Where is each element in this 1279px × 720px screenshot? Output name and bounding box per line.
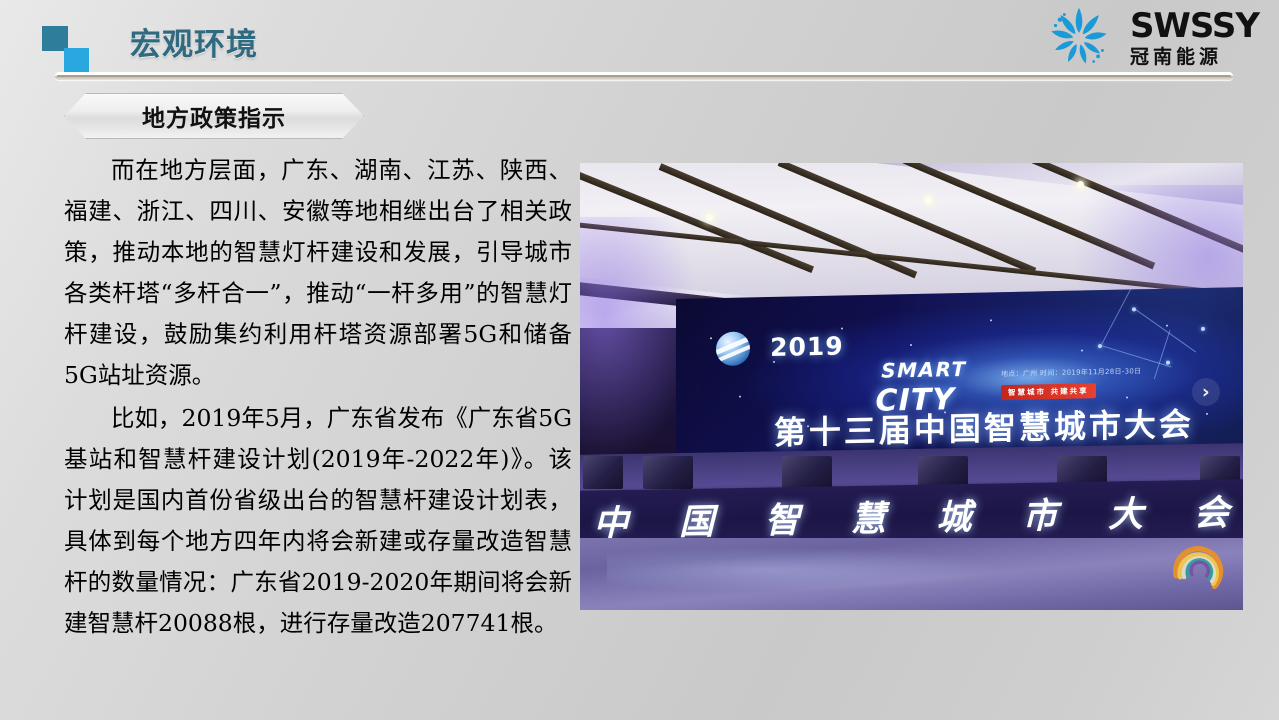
body-paragraph-2: 比如，2019年5月，广东省发布《广东省5G基站和智慧杆建设计划(2019年-2… bbox=[64, 398, 572, 644]
event-ring-logo-icon bbox=[1167, 535, 1233, 601]
floor-reflection bbox=[607, 547, 1005, 592]
front-panel-char: 大 bbox=[1108, 485, 1143, 537]
led-slogan: 智慧城市 共建共享 bbox=[1001, 383, 1096, 400]
title-decoration-squares bbox=[42, 26, 90, 72]
network-node-icon bbox=[1201, 327, 1205, 331]
page-title: 宏观环境 bbox=[130, 19, 258, 64]
stage-monitor bbox=[782, 456, 832, 490]
front-panel-char: 会 bbox=[1194, 484, 1229, 536]
photo-content: 2019 SMART CITY 地点：广州 时间：2019年11月28日-30日… bbox=[580, 163, 1243, 610]
front-panel-char: 智 bbox=[765, 491, 800, 543]
led-smart: SMART bbox=[881, 357, 966, 383]
body-paragraph-1: 而在地方层面，广东、湖南、江苏、陕西、福建、浙江、四川、安徽等地相继出台了相关政… bbox=[64, 150, 572, 396]
section-subtitle-text: 地方政策指示 bbox=[142, 99, 286, 133]
header-divider bbox=[55, 72, 1233, 80]
network-node-icon bbox=[1166, 360, 1170, 364]
front-panel-char: 市 bbox=[1023, 487, 1058, 539]
downlight-icon bbox=[925, 197, 932, 204]
stage-monitor bbox=[583, 456, 623, 490]
brand-logo: SWSSY 冠南能源 bbox=[1040, 4, 1259, 72]
led-date: 地点：广州 时间：2019年11月28日-30日 bbox=[1001, 366, 1142, 379]
led-year: 2019 bbox=[770, 331, 844, 362]
brand-text: SWSSY 冠南能源 bbox=[1130, 9, 1259, 67]
front-panel-char: 慧 bbox=[851, 490, 886, 542]
stage-monitor bbox=[643, 456, 693, 490]
conference-photo: 2019 SMART CITY 地点：广州 时间：2019年11月28日-30日… bbox=[580, 163, 1243, 610]
square-accent-icon bbox=[64, 48, 89, 72]
front-panel-char: 城 bbox=[937, 488, 972, 540]
body-text-column: 而在地方层面，广东、湖南、江苏、陕西、福建、浙江、四川、安徽等地相继出台了相关政… bbox=[64, 150, 572, 644]
next-slide-chevron-icon[interactable]: › bbox=[1192, 378, 1220, 406]
brand-subname: 冠南能源 bbox=[1130, 48, 1222, 67]
slide-header: 宏观环境 bbox=[0, 0, 1279, 92]
section-subtitle-banner: 地方政策指示 bbox=[64, 93, 364, 139]
brand-name: SWSSY bbox=[1130, 9, 1259, 43]
front-panel-char: 国 bbox=[679, 493, 714, 545]
swssy-petal-logo-icon bbox=[1040, 5, 1118, 71]
conference-globe-icon bbox=[716, 331, 750, 366]
